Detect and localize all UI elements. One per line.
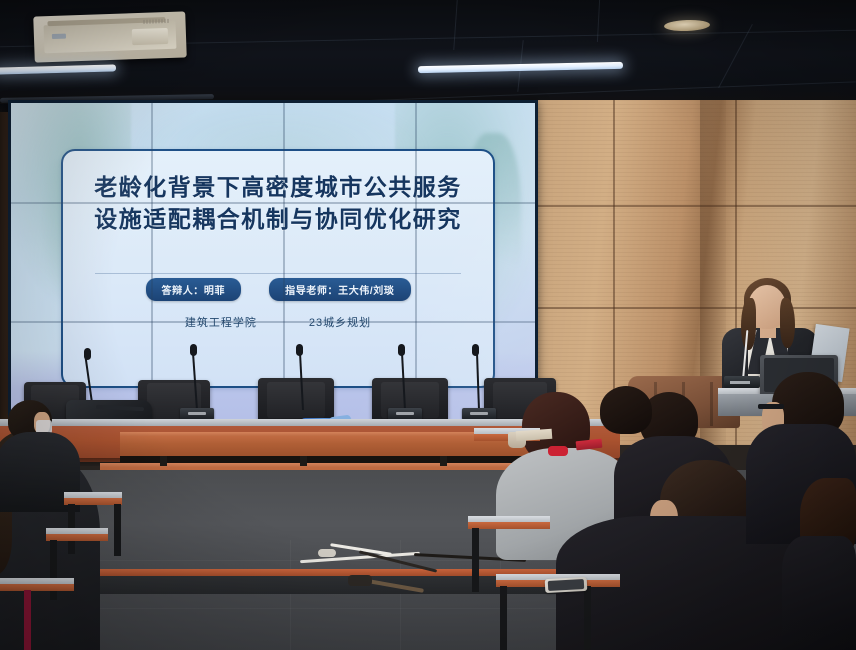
microphone-head <box>398 344 405 356</box>
student-desk-edge <box>468 522 550 529</box>
phone-on-desk <box>545 577 588 593</box>
presenter-hair-right <box>780 298 795 348</box>
microphone-indicator <box>396 412 414 415</box>
wall-panel-seam <box>537 307 856 309</box>
desk-leg <box>114 504 121 556</box>
video-wall-seam <box>151 103 153 419</box>
ac-vent-secondary <box>132 28 169 45</box>
slide-divider <box>95 273 461 274</box>
floor-tile-line <box>400 540 401 650</box>
collar-accent <box>548 446 568 456</box>
phone-screen <box>548 579 584 591</box>
desk-leg <box>24 590 31 650</box>
microphone-head <box>84 348 91 360</box>
ceiling-grid-line <box>453 0 457 50</box>
floor-tile-line <box>290 540 291 650</box>
video-wall-seam <box>283 103 285 419</box>
glasses-icon <box>758 404 784 409</box>
presentation-room-photo: 老龄化背景下高密度城市公共服务 设施适配耦合机制与协同优化研究 答辩人：明菲 指… <box>0 0 856 650</box>
microphone-head <box>296 344 303 356</box>
slide-surface: 老龄化背景下高密度城市公共服务 设施适配耦合机制与协同优化研究 答辩人：明菲 指… <box>11 103 535 419</box>
audience-hair <box>600 386 652 434</box>
bench-leg <box>160 456 167 466</box>
advisor-badge: 指导老师：王大伟/刘琰 <box>269 278 410 301</box>
desk-leg <box>500 586 507 650</box>
ceiling-grid-line <box>718 24 753 88</box>
desk-leg <box>584 586 591 650</box>
cable-connector <box>348 575 372 586</box>
podium-microphone-indicator <box>730 381 750 384</box>
student-desk-edge <box>0 584 74 591</box>
bench-leg <box>440 456 447 466</box>
video-wall-seam <box>11 202 535 204</box>
presenter-badge: 答辩人：明菲 <box>146 278 242 301</box>
video-wall-seam <box>415 103 417 419</box>
air-conditioner-unit <box>33 11 187 62</box>
microphone-head <box>190 344 197 356</box>
audience-body <box>782 536 856 650</box>
panel-chair <box>258 378 334 422</box>
slide-title-line-1: 老龄化背景下高密度城市公共服务 <box>63 171 493 203</box>
bench-leg <box>300 456 307 466</box>
slide-content-card: 老龄化背景下高密度城市公共服务 设施适配耦合机制与协同优化研究 答辩人：明菲 指… <box>61 149 495 388</box>
microphone-indicator <box>470 412 488 415</box>
desk-leg <box>472 528 479 592</box>
microphone-head <box>472 344 479 356</box>
presenter-hair-left <box>741 298 756 350</box>
slide-title-line-2: 设施适配耦合机制与协同优化研究 <box>63 203 493 235</box>
microphone-indicator <box>188 412 206 415</box>
cable-plug <box>318 549 336 557</box>
slide-pill-row: 答辩人：明菲 指导老师：王大伟/刘琰 <box>63 278 493 301</box>
wall-panel-seam <box>537 205 856 207</box>
desk-leg <box>50 540 57 600</box>
ac-logo <box>52 34 66 39</box>
sofa-fold <box>710 382 713 426</box>
video-wall-seam <box>11 321 535 323</box>
